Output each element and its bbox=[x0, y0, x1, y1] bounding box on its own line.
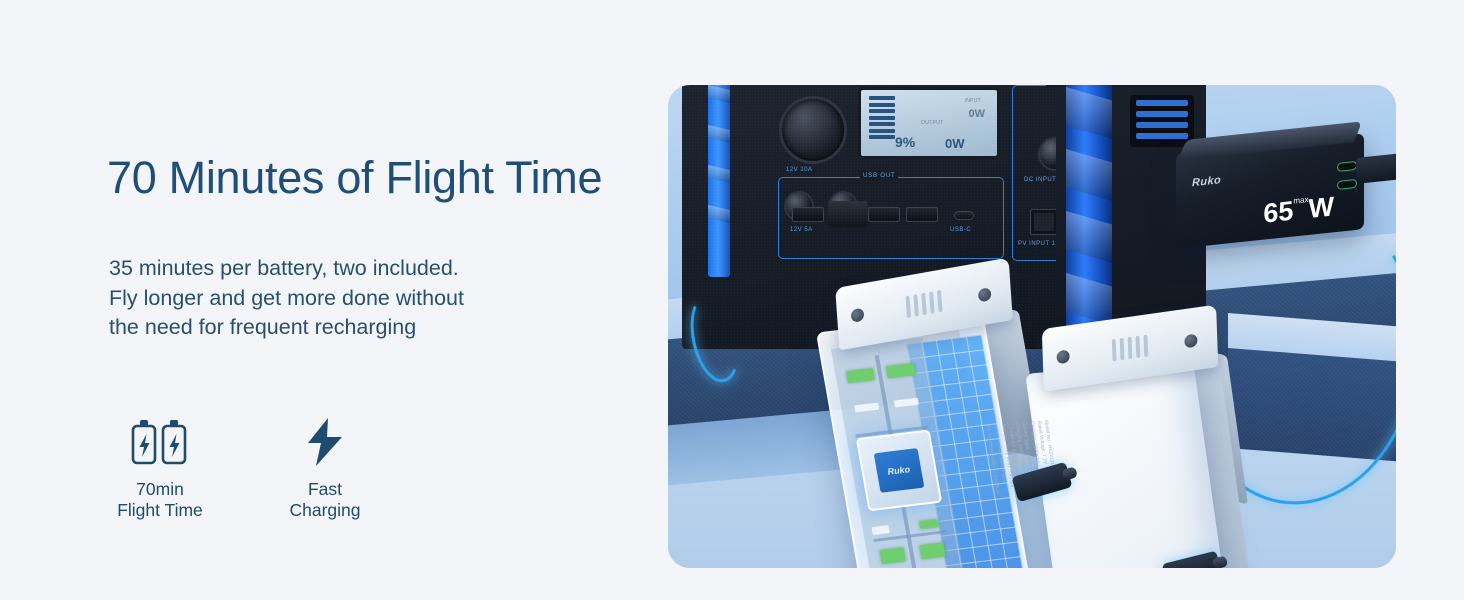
battery-pin-right-1 bbox=[1056, 349, 1069, 364]
feature-flight-time-line-2: Flight Time bbox=[75, 500, 245, 521]
feature-flight-time-line-1: 70min bbox=[75, 479, 245, 500]
lightning-bolt-icon bbox=[240, 405, 410, 467]
feature-list: 70min Flight Time Fast Charging bbox=[0, 405, 668, 545]
subcopy-line-1: 35 minutes per battery, two included. bbox=[109, 254, 464, 284]
feature-fast-charging-line-2: Charging bbox=[240, 500, 410, 521]
dual-battery-bolt-icon bbox=[75, 405, 245, 467]
usb-c-port bbox=[954, 211, 974, 220]
feature-fast-charging-line-1: Fast bbox=[240, 479, 410, 500]
station-blue-rail bbox=[708, 85, 730, 277]
label-12v-10a: 12V 10A bbox=[786, 167, 813, 173]
lcd-output-watts: 0W bbox=[945, 136, 965, 151]
label-usb-c: USB-C bbox=[950, 227, 971, 233]
usb-out-group bbox=[778, 177, 1004, 259]
battery-vent-slots-left bbox=[906, 290, 943, 318]
feature-fast-charging-label: Fast Charging bbox=[240, 479, 410, 521]
lcd-label-input: INPUT bbox=[965, 98, 982, 104]
label-12v-5a: 12V 5A bbox=[790, 227, 813, 233]
battery-main-chip: Ruko bbox=[856, 430, 942, 512]
usb-a-port-3 bbox=[906, 207, 938, 222]
marketing-copy-column: 70 Minutes of Flight Time 35 minutes per… bbox=[0, 0, 668, 600]
feature-flight-time: 70min Flight Time bbox=[75, 405, 245, 521]
station-lcd-display: OUTPUT INPUT 9% 0W 0W bbox=[858, 87, 1000, 159]
subcopy-line-2: Fly longer and get more done without bbox=[109, 284, 464, 314]
battery-chip-brand: Ruko bbox=[887, 465, 911, 478]
battery-pin-left-1 bbox=[851, 308, 865, 323]
tower-vent-grill bbox=[1130, 95, 1194, 147]
port-12v-10a bbox=[782, 99, 844, 161]
plugged-usb-connector bbox=[828, 201, 868, 227]
subcopy-line-3: the need for frequent recharging bbox=[109, 313, 464, 343]
charger-brand-label: Ruko bbox=[1192, 174, 1221, 189]
port-12v-5a-left bbox=[786, 193, 812, 219]
port-12v-5a-right bbox=[830, 193, 856, 219]
subcopy: 35 minutes per battery, two included. Fl… bbox=[109, 254, 464, 343]
usb-a-port-1 bbox=[792, 207, 824, 222]
lcd-input-watts: 0W bbox=[969, 108, 986, 120]
feature-fast-charging: Fast Charging bbox=[240, 405, 410, 521]
label-usb-out: USB OUT bbox=[860, 172, 898, 179]
battery-chip-face: Ruko bbox=[873, 448, 924, 493]
battery-pin-left-2 bbox=[978, 287, 992, 302]
battery-vent-slots-right bbox=[1112, 334, 1148, 361]
battery-pin-right-2 bbox=[1184, 334, 1197, 349]
lcd-battery-percent: 9% bbox=[895, 134, 915, 150]
charger-wattage-sup: max bbox=[1293, 195, 1308, 206]
product-photo: 12V 10A 12V 5A OUTPUT INPUT 9% 0W 0W USB… bbox=[668, 85, 1396, 568]
feature-flight-time-label: 70min Flight Time bbox=[75, 479, 245, 521]
page-title: 70 Minutes of Flight Time bbox=[107, 152, 602, 204]
charger-cable-head bbox=[1356, 151, 1396, 184]
usb-a-port-2 bbox=[868, 207, 900, 222]
lcd-battery-bars bbox=[869, 96, 895, 140]
lcd-label-output: OUTPUT bbox=[921, 120, 943, 126]
